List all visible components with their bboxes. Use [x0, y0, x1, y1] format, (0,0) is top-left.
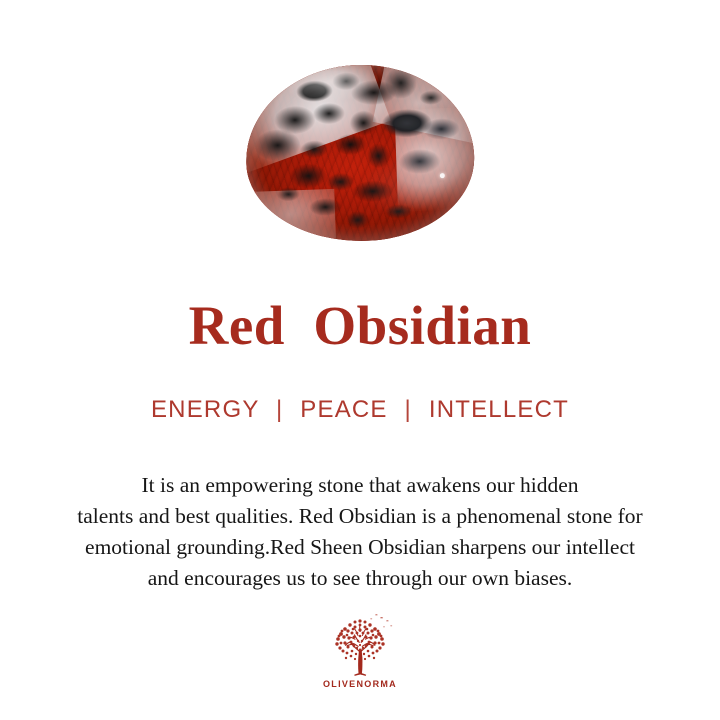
description-line: It is an empowering stone that awakens o… [0, 470, 720, 501]
description-line: emotional grounding.Red Sheen Obsidian s… [0, 532, 720, 563]
brand-wordmark: OLIVENORMA [323, 679, 397, 689]
page-title: Red Obsidian [0, 296, 720, 357]
product-info-card: Red Obsidian ENERGY | PEACE | INTELLECT … [0, 0, 720, 720]
property-separator-2: | [396, 396, 421, 423]
stone-properties: ENERGY | PEACE | INTELLECT [0, 396, 720, 425]
property-peace: PEACE [300, 396, 387, 423]
property-separator-1: | [267, 396, 292, 423]
product-image-container [0, 58, 720, 248]
description-line: and encourages us to see through our own… [0, 563, 720, 594]
property-intellect: INTELLECT [429, 396, 569, 423]
stone-description: It is an empowering stone that awakens o… [0, 470, 720, 594]
tree-of-life-icon [324, 612, 396, 678]
description-line: talents and best qualities. Red Obsidian… [0, 501, 720, 532]
red-obsidian-stone-photo [243, 61, 477, 245]
property-energy: ENERGY [151, 396, 259, 423]
brand-logo: OLIVENORMA [300, 612, 420, 689]
